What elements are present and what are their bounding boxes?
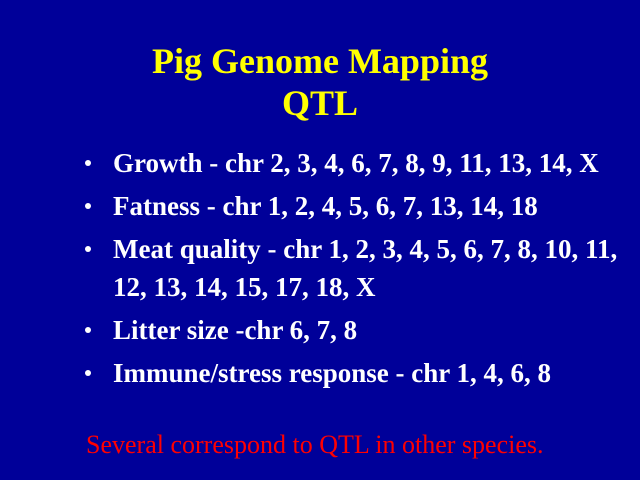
list-item: Meat quality - chr 1, 2, 3, 4, 5, 6, 7, … [0,230,640,306]
bullet-dot-icon [85,370,91,376]
title-line-2: QTL [0,82,640,124]
slide-footnote: Several correspond to QTL in other speci… [86,430,626,460]
list-item-label: Growth - chr 2, 3, 4, 6, 7, 8, 9, 11, 13… [113,144,622,182]
bullet-dot-icon [85,160,91,166]
list-item: Immune/stress response - chr 1, 4, 6, 8 [0,354,640,392]
bullet-dot-icon [85,203,91,209]
slide-canvas: Pig Genome Mapping QTL Growth - chr 2, 3… [0,0,640,480]
list-item-label: Fatness - chr 1, 2, 4, 5, 6, 7, 13, 14, … [113,187,622,225]
list-item: Fatness - chr 1, 2, 4, 5, 6, 7, 13, 14, … [0,187,640,225]
slide-title: Pig Genome Mapping QTL [0,40,640,124]
list-item-label: Meat quality - chr 1, 2, 3, 4, 5, 6, 7, … [113,230,622,306]
bullet-dot-icon [85,327,91,333]
bullet-dot-icon [85,246,91,252]
title-line-1: Pig Genome Mapping [0,40,640,82]
list-item-label: Litter size -chr 6, 7, 8 [113,311,622,349]
list-item: Growth - chr 2, 3, 4, 6, 7, 8, 9, 11, 13… [0,144,640,182]
list-item: Litter size -chr 6, 7, 8 [0,311,640,349]
list-item-label: Immune/stress response - chr 1, 4, 6, 8 [113,354,622,392]
slide-body: Growth - chr 2, 3, 4, 6, 7, 8, 9, 11, 13… [0,144,640,392]
bullet-list: Growth - chr 2, 3, 4, 6, 7, 8, 9, 11, 13… [0,144,640,392]
